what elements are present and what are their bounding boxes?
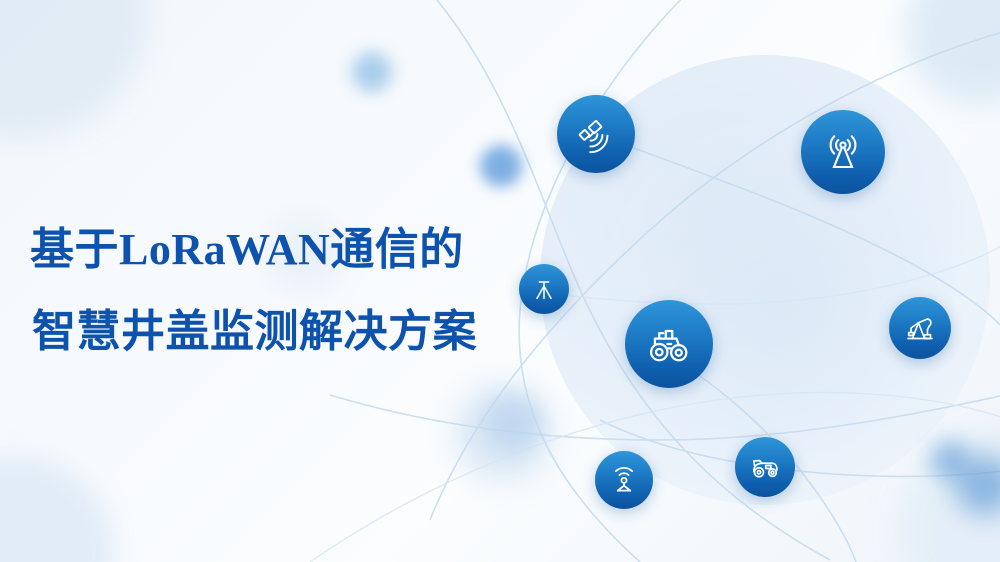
node-satellite[interactable]	[557, 95, 635, 173]
tractor-icon	[643, 318, 695, 370]
node-tractor[interactable]	[625, 300, 713, 388]
node-wireless-beacon[interactable]	[595, 451, 653, 509]
node-oil-pumpjack[interactable]	[889, 297, 951, 359]
glow-dot-lower-right-inner	[930, 440, 970, 480]
title-line-2: 智慧井盖监测解决方案	[32, 310, 590, 354]
glow-dot-lower-right	[955, 455, 1000, 515]
slide-title: 基于LoRaWAN通信的 智慧井盖监测解决方案	[30, 228, 590, 354]
background-blob-bottom-left	[0, 455, 115, 562]
node-robot-mower[interactable]	[735, 437, 795, 497]
title-line-1: 基于LoRaWAN通信的	[30, 228, 590, 272]
robot-mower-icon	[747, 449, 783, 485]
antenna-tower-icon	[819, 128, 867, 176]
background-blob-top-right	[905, 0, 1000, 105]
glow-dot-center	[485, 395, 541, 451]
presentation-slide: 基于LoRaWAN通信的 智慧井盖监测解决方案	[0, 0, 1000, 562]
background-blob-top-left	[0, 0, 150, 140]
background-blob-bottom-right	[900, 430, 1000, 562]
background-blob-center	[455, 385, 551, 481]
glow-dot-upper-mid	[480, 145, 522, 187]
oil-pumpjack-icon	[902, 310, 938, 346]
glow-dot-upper-left	[352, 52, 392, 92]
node-antenna-tower[interactable]	[801, 110, 885, 194]
satellite-icon	[574, 112, 618, 156]
wireless-beacon-icon	[607, 463, 641, 497]
